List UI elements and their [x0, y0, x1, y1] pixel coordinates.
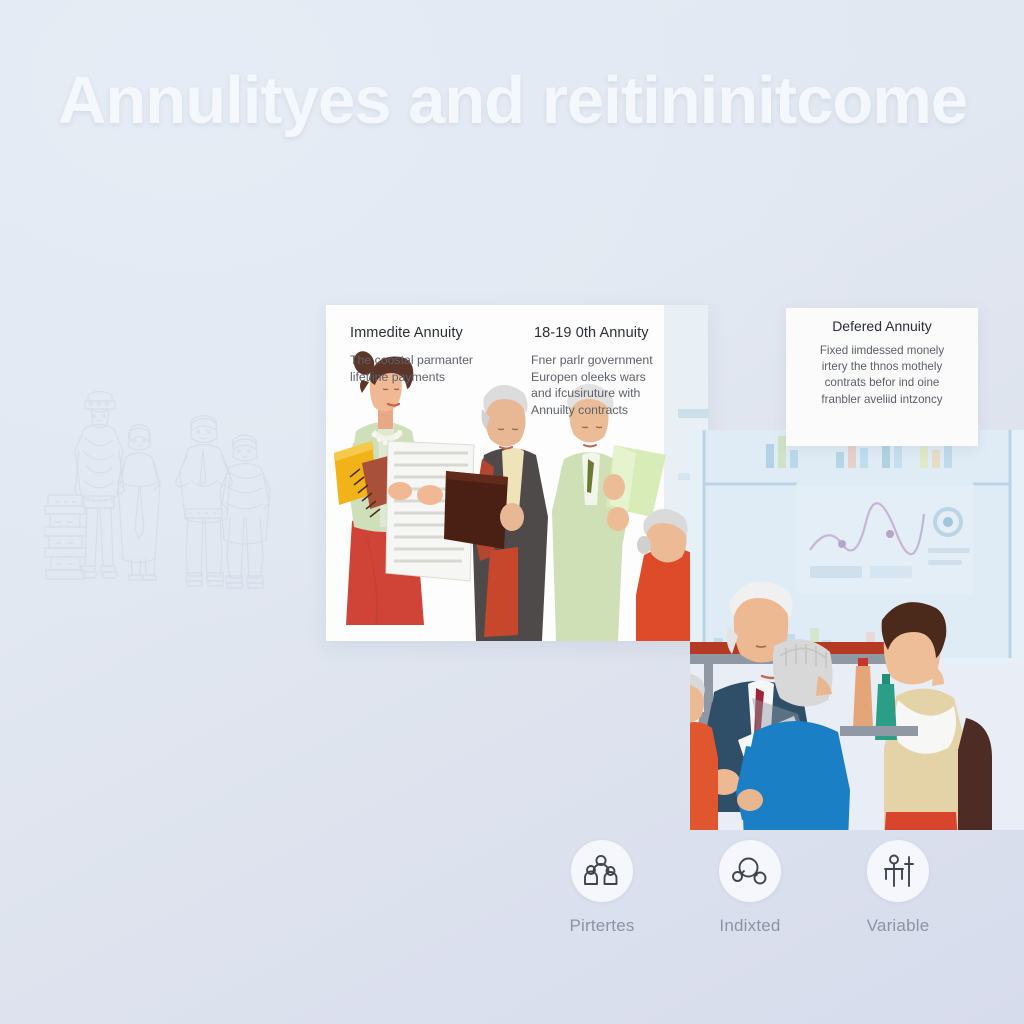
deferred-annuity-card: Defered Annuity Fixed iimdessed monely i…	[786, 308, 978, 446]
person-staff-icon	[867, 840, 929, 902]
icon-label-variable: Variable	[836, 916, 960, 936]
deferred-body-line: franbler aveliid intzoncy	[792, 392, 972, 408]
annuity-type-icon-row: Pirtertes Indixted	[540, 840, 960, 950]
icon-label-indixted: Indixted	[688, 916, 812, 936]
card-body-century: Fner parlr government Europen oleeks war…	[531, 352, 701, 418]
group-people-icon	[571, 840, 633, 902]
deferred-body-line: contrats befor ind oine	[792, 375, 972, 391]
page-title: Annulityes and reitininitcome	[58, 62, 968, 140]
main-illustration-panel: Immedite Annuity The coostal parmanter l…	[326, 305, 708, 641]
icon-item-pirtertes[interactable]: Pirtertes	[540, 840, 664, 936]
deferred-card-body: Fixed iimdessed monely irtery the thnos …	[792, 343, 972, 408]
card-heading-immediate: Immedite Annuity	[350, 325, 463, 341]
icon-item-indixted[interactable]: Indixted	[688, 840, 812, 936]
card-body-immediate: The coostal parmanter lifetline payments	[350, 352, 510, 385]
roman-figures-line-art	[44, 383, 320, 608]
network-circles-icon	[719, 840, 781, 902]
icon-item-variable[interactable]: Variable	[836, 840, 960, 936]
deferred-body-line: Fixed iimdessed monely	[792, 343, 972, 359]
icon-label-pirtertes: Pirtertes	[540, 916, 664, 936]
office-meeting-scene	[690, 430, 1024, 830]
infographic-canvas: Annulityes and reitininitcome	[0, 0, 1024, 1024]
deferred-card-heading: Defered Annuity	[792, 318, 972, 334]
card-heading-century: 18-19 0th Annuity	[534, 325, 649, 341]
deferred-body-line: irtery the thnos mothely	[792, 359, 972, 375]
